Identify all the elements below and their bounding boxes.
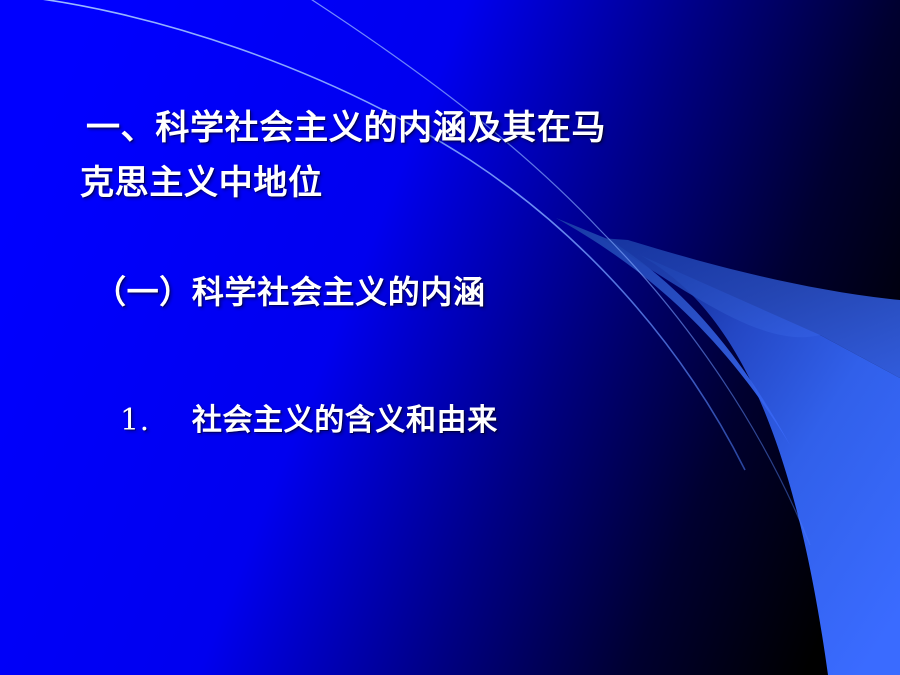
bullet-item-number: 1.	[120, 403, 150, 438]
subtitle-line-1: （一）科学社会主义的内涵	[94, 268, 486, 316]
title-line-1: 一、科学社会主义的内涵及其在马	[86, 100, 606, 156]
slide-content: 一、科学社会主义的内涵及其在马 克思主义中地位 （一）科学社会主义的内涵 1.社…	[0, 0, 900, 675]
bullet-item-label: 社会主义的含义和由来	[192, 403, 498, 438]
title-line-2: 克思主义中地位	[80, 155, 323, 211]
bullet-item-1: 1.社会主义的含义和由来	[120, 398, 498, 444]
presentation-slide: 一、科学社会主义的内涵及其在马 克思主义中地位 （一）科学社会主义的内涵 1.社…	[0, 0, 900, 675]
